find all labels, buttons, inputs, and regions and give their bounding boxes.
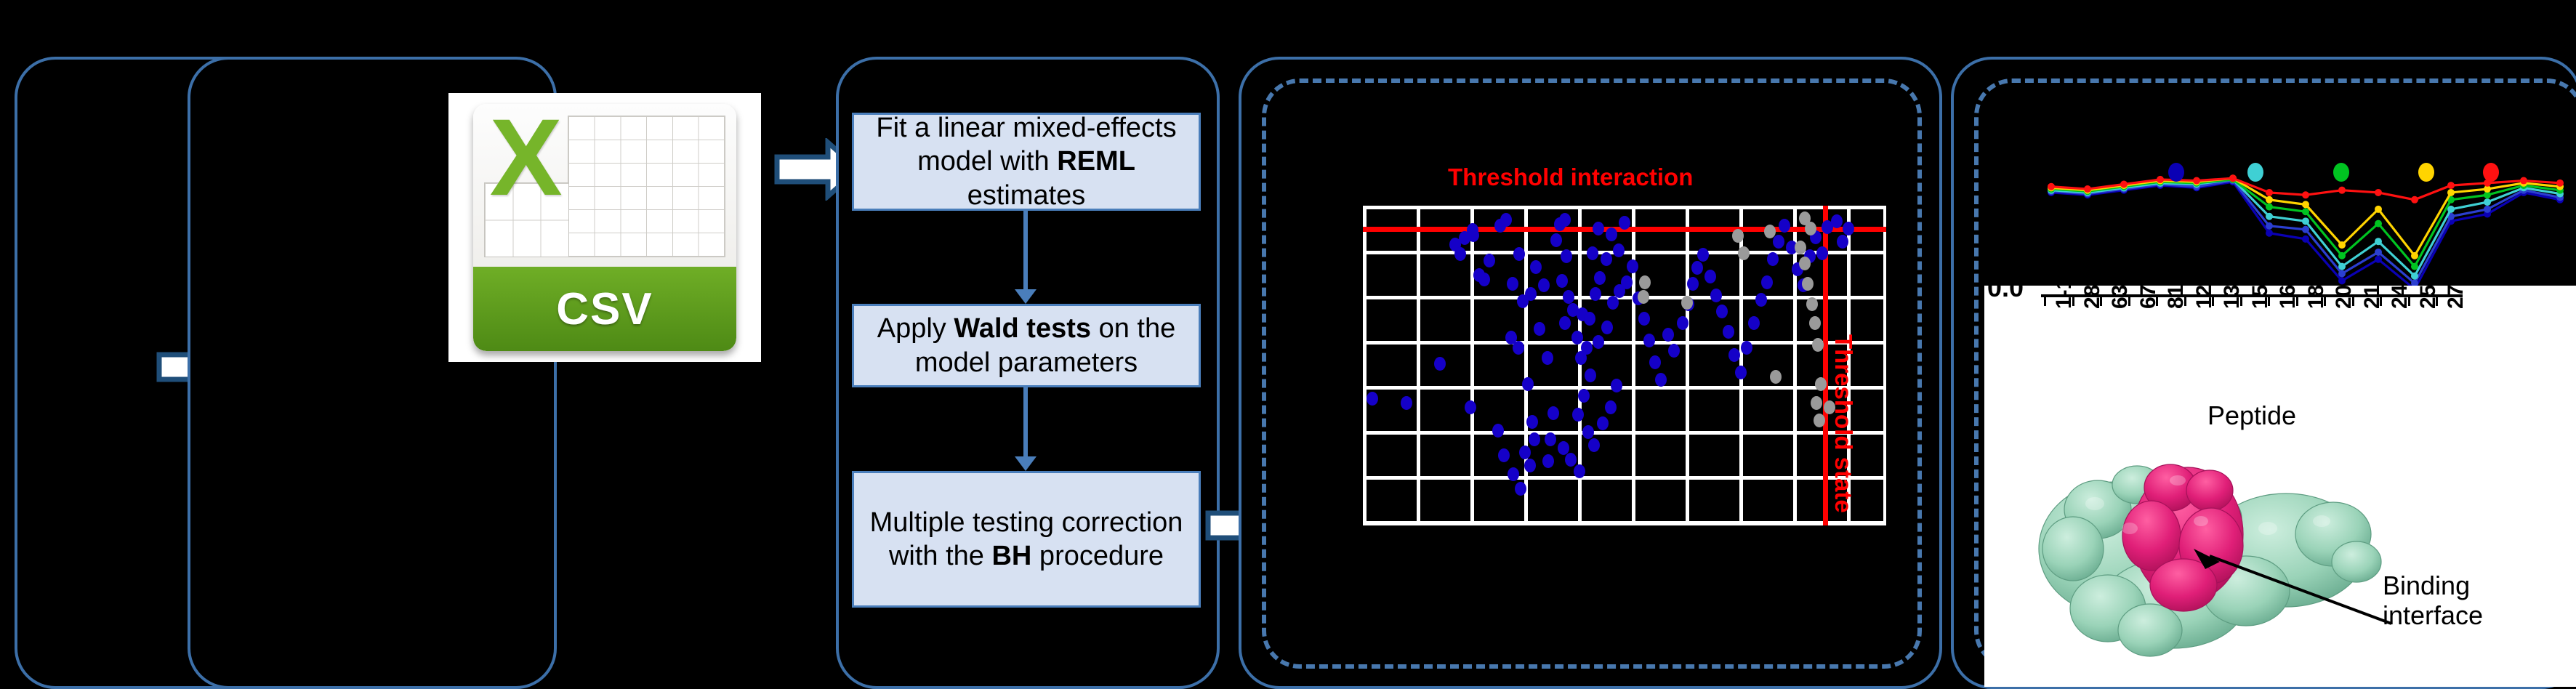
peptide-series-point <box>2338 263 2346 270</box>
peptide-series-point <box>2302 235 2309 243</box>
peptide-series-point <box>2411 263 2418 270</box>
binding-interface-leader-line <box>2188 547 2399 634</box>
threshold-state-label: Threshold state <box>1830 334 1857 513</box>
peptide-series-point <box>2411 196 2418 204</box>
peptide-series-point <box>2266 213 2273 220</box>
peptide-series-point <box>2411 252 2418 259</box>
peptide-series-point <box>2266 230 2273 237</box>
peptide-series-point <box>2266 196 2273 204</box>
csv-file-icon-card: X CSV <box>448 93 761 362</box>
connector-arrowhead-bh <box>1015 456 1037 471</box>
connector-wald-to-bh <box>1023 387 1028 464</box>
flow-step-wald[interactable]: Apply Wald tests on the model parameters <box>852 304 1201 387</box>
x-axis-tick <box>2296 296 2298 306</box>
x-axis-tick <box>2212 296 2214 306</box>
peptide-series-point <box>2411 273 2418 280</box>
x-axis-tick <box>2240 296 2242 306</box>
x-axis-tick <box>2044 296 2046 306</box>
peptide-series-point <box>2375 189 2382 196</box>
peptide-series-point <box>2338 241 2346 249</box>
csv-format-label: CSV <box>556 283 653 335</box>
peptide-series-point <box>2084 185 2091 193</box>
peptide-series-point <box>2302 217 2309 225</box>
peptide-series-point <box>2447 182 2455 189</box>
peptide-series-point <box>2375 238 2382 245</box>
legend-dot-5 <box>2483 163 2499 182</box>
peptide-series-point <box>2375 256 2382 263</box>
peptide-series-point <box>2338 252 2346 259</box>
flow-step-reml[interactable]: Fit a linear mixed-effects model with RE… <box>852 113 1201 211</box>
csv-icon: X CSV <box>473 104 736 351</box>
peptide-series-point <box>2302 226 2309 233</box>
peptide-series-svg <box>1992 137 2573 298</box>
peptide-series-point <box>2048 183 2055 190</box>
binding-interface-label: Binding interface <box>2383 571 2557 631</box>
legend-dot-1 <box>2168 163 2184 182</box>
binding-interface-line2: interface <box>2383 600 2557 630</box>
x-axis-tick <box>2100 296 2102 306</box>
peptide-series-point <box>2266 189 2273 196</box>
peptide-series-point <box>2447 189 2455 196</box>
legend-dot-4 <box>2418 163 2434 182</box>
peptide-series-point <box>2338 270 2346 277</box>
legend-dot-2 <box>2247 163 2263 182</box>
peptide-series-point <box>2302 201 2309 208</box>
peptide-series-point <box>2338 187 2346 194</box>
peptide-series-point <box>2120 180 2128 188</box>
peptide-series-point <box>2229 174 2237 182</box>
spreadsheet-grid-right <box>568 116 725 257</box>
y-axis-tick-0: 0.0 <box>1987 286 2024 303</box>
threshold-interaction-label: Threshold interaction <box>1448 164 1693 191</box>
connector-reml-to-wald <box>1023 211 1028 294</box>
x-axis-title: Peptide <box>2172 400 2332 431</box>
step-bh-text: Multiple testing correction with the BH … <box>861 506 1191 573</box>
csv-format-band: CSV <box>473 267 736 351</box>
peptide-series-point <box>2556 180 2564 187</box>
peptide-series-point <box>2484 198 2491 206</box>
x-axis-tick <box>2268 296 2270 306</box>
peptide-series-point <box>2266 222 2273 230</box>
legend-dot-3 <box>2333 163 2349 182</box>
spreadsheet-body: X <box>473 104 736 267</box>
peptide-series-point <box>2338 277 2346 284</box>
peptide-line-chart <box>1992 137 2573 298</box>
excel-x-glyph: X <box>486 105 565 179</box>
x-axis-tick-label: 277-284 <box>2444 286 2468 309</box>
x-axis-tick <box>2436 296 2438 306</box>
binding-interface-line1: Binding <box>2383 571 2557 600</box>
x-axis-tick <box>2408 296 2410 306</box>
x-axis-tick <box>2128 296 2130 306</box>
connector-arrowhead-wald <box>1015 289 1037 304</box>
step-reml-text: Fit a linear mixed-effects model with RE… <box>861 111 1191 212</box>
peptide-series-point <box>2193 177 2200 185</box>
x-axis-tick <box>2380 296 2382 306</box>
x-axis-tick <box>2072 296 2074 306</box>
peptide-series-point <box>2520 177 2527 185</box>
x-axis-tick <box>2352 296 2354 306</box>
peptide-structure-card: 0.0 1-1528-4463-7367-7581-101122-129135-… <box>1984 286 2576 687</box>
peptide-series-point <box>2375 206 2382 213</box>
peptide-series-point <box>2157 176 2164 183</box>
threshold-scatter-plot <box>1363 206 1886 525</box>
flow-step-bh[interactable]: Multiple testing correction with the BH … <box>852 471 1201 608</box>
x-axis-tick <box>2156 296 2158 306</box>
peptide-series-point <box>2302 208 2309 215</box>
x-axis-tick <box>2324 296 2326 306</box>
peptide-series-point <box>2375 220 2382 227</box>
peptide-series-point <box>2266 204 2273 211</box>
peptide-series-point <box>2375 249 2382 256</box>
x-axis-tick <box>2184 296 2186 306</box>
step-wald-text: Apply Wald tests on the model parameters <box>861 312 1191 379</box>
peptide-series-point <box>2302 191 2309 198</box>
peptide-series-point <box>2484 206 2491 213</box>
